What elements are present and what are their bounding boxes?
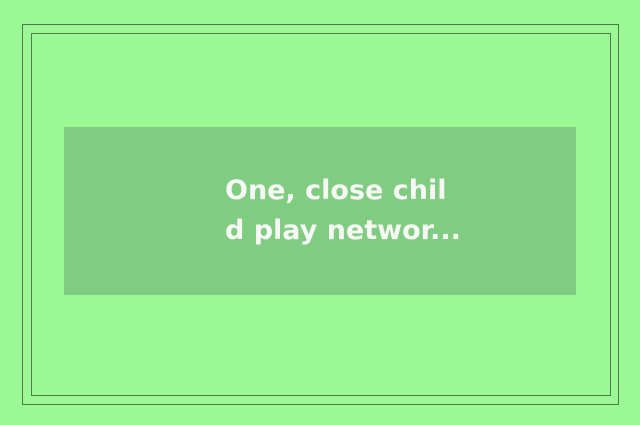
text-banner: One, close chil d play networ... [64, 127, 576, 295]
banner-text-line-2: d play networ... [225, 211, 461, 251]
banner-text-line-1: One, close chil [225, 171, 446, 211]
image-canvas: One, close chil d play networ... [0, 0, 640, 425]
